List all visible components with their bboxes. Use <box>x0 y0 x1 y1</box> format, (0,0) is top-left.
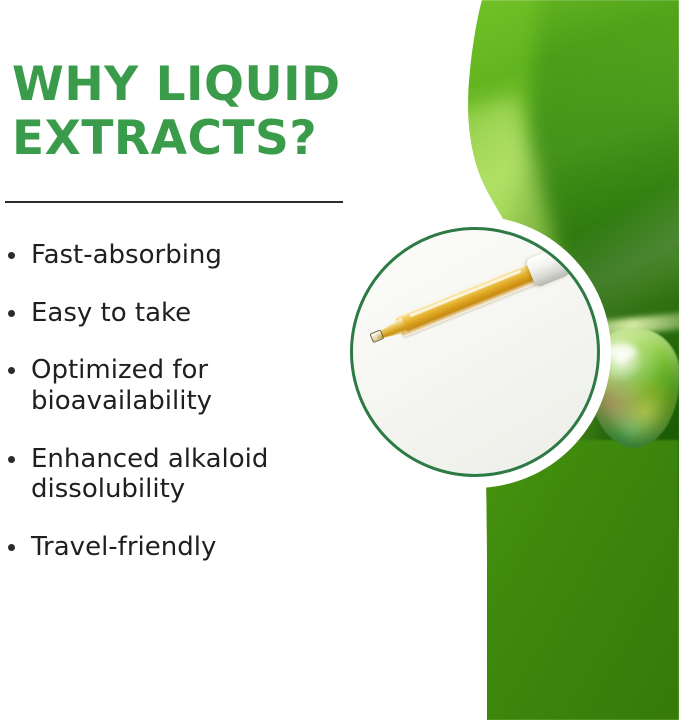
list-item-label: Travel-friendly <box>31 532 216 562</box>
list-item: Easy to take <box>0 298 360 329</box>
bullet-icon <box>8 252 15 259</box>
pipette-tube <box>395 260 544 337</box>
list-item-label: Enhanced alkaloid dissolubility <box>31 444 268 505</box>
list-item: Optimized for bioavailability <box>0 355 360 416</box>
dropper-pipette-icon <box>369 244 575 350</box>
page-title: WHY LIQUID EXTRACTS? <box>12 58 357 165</box>
page-title-line-1: WHY LIQUID <box>12 57 341 112</box>
page-title-line-2: EXTRACTS? <box>12 111 317 166</box>
list-item-label: Fast-absorbing <box>31 240 222 270</box>
title-divider <box>5 201 343 203</box>
list-item-label: Optimized for bioavailability <box>31 355 212 416</box>
list-item-label: Easy to take <box>31 298 191 328</box>
list-item: Enhanced alkaloid dissolubility <box>0 444 360 505</box>
benefits-list: Fast-absorbing Easy to take Optimized fo… <box>0 240 360 590</box>
infographic-canvas: WHY LIQUID EXTRACTS? Fast-absorbing Easy… <box>0 0 679 720</box>
bullet-icon <box>8 367 15 374</box>
bullet-icon <box>8 456 15 463</box>
bullet-icon <box>8 544 15 551</box>
text-column: WHY LIQUID EXTRACTS? Fast-absorbing Easy… <box>0 0 392 720</box>
bullet-icon <box>8 310 15 317</box>
list-item: Travel-friendly <box>0 532 360 563</box>
list-item: Fast-absorbing <box>0 240 360 271</box>
